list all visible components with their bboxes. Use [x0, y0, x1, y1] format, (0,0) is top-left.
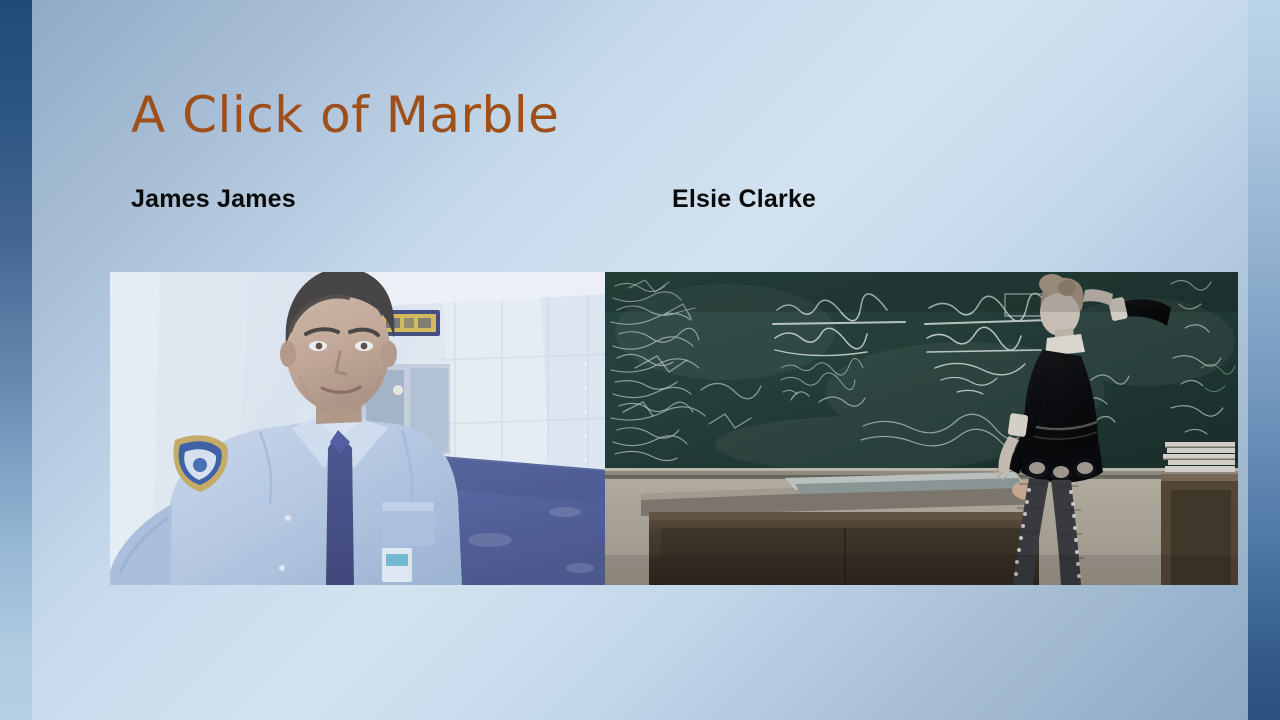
- character-name-james-james: James James: [131, 183, 296, 215]
- security-guard-photo: [110, 272, 610, 585]
- chalkboard-illustration: [605, 272, 1238, 585]
- teacher-chalkboard-photo: [605, 272, 1238, 585]
- security-guard-illustration: [110, 272, 610, 585]
- presentation-slide: A Click of Marble James James Elsie Clar…: [0, 0, 1280, 720]
- right-accent-band: [1248, 0, 1280, 720]
- character-name-elsie-clarke: Elsie Clarke: [672, 183, 816, 215]
- left-accent-band: [0, 0, 32, 720]
- page-title: A Click of Marble: [131, 82, 559, 148]
